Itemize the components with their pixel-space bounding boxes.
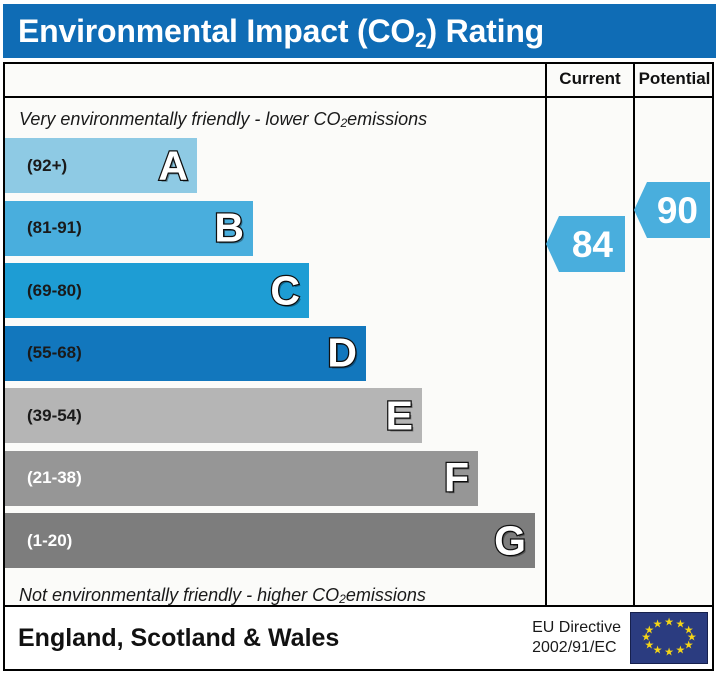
footer-directive-group: EU Directive 2002/91/EC (532, 607, 712, 669)
column-header-current: Current (545, 62, 633, 96)
current-rating-arrow: 84 (546, 216, 625, 272)
column-divider-potential (633, 98, 635, 607)
potential-rating-arrow: 90 (634, 182, 710, 238)
rating-band-a: (92+)A (5, 138, 197, 193)
eu-directive-text: EU Directive 2002/91/EC (532, 618, 630, 659)
footer-bar: England, Scotland & Wales EU Directive 2… (3, 607, 714, 671)
caption-top-suffix: emissions (347, 109, 427, 130)
title-banner: Environmental Impact (CO2) Rating (3, 4, 716, 58)
rating-band-b: (81-91)B (5, 201, 253, 256)
caption-very-friendly: Very environmentally friendly - lower CO… (5, 102, 543, 136)
band-range-label: (81-91) (5, 218, 82, 238)
title-prefix: Environmental Impact (CO (18, 13, 415, 49)
band-letter-a: A (158, 145, 188, 186)
rating-bands: (92+)A(81-91)B(69-80)C(55-68)D(39-54)E(2… (5, 138, 543, 576)
rating-band-g: (1-20)G (5, 513, 535, 568)
band-letter-c: C (270, 270, 300, 311)
band-letter-b: B (214, 208, 244, 249)
caption-bottom-subscript: 2 (339, 592, 346, 606)
band-letter-g: G (494, 520, 526, 561)
title-suffix: ) Rating (427, 13, 545, 49)
rating-band-d: (55-68)D (5, 326, 366, 381)
footer-region-label: England, Scotland & Wales (5, 624, 339, 653)
caption-bottom-prefix: Not environmentally friendly - higher CO (19, 585, 339, 606)
band-range-label: (92+) (5, 156, 67, 176)
potential-rating-value: 90 (657, 192, 698, 229)
caption-bottom-suffix: emissions (346, 585, 426, 606)
epc-environmental-impact-chart: Environmental Impact (CO2) Rating Curren… (0, 0, 719, 675)
band-range-label: (69-80) (5, 281, 82, 301)
eu-directive-line2: 2002/91/EC (532, 638, 621, 658)
band-letter-f: F (444, 458, 469, 499)
column-divider-current (545, 98, 547, 607)
band-range-label: (39-54) (5, 406, 82, 426)
band-letter-e: E (386, 395, 413, 436)
title-subscript: 2 (415, 29, 426, 52)
band-range-label: (21-38) (5, 468, 82, 488)
caption-top-prefix: Very environmentally friendly - lower CO (19, 109, 340, 130)
rating-band-f: (21-38)F (5, 451, 478, 506)
rating-band-c: (69-80)C (5, 263, 309, 318)
rating-band-e: (39-54)E (5, 388, 422, 443)
eu-flag-icon (630, 612, 708, 664)
band-range-label: (1-20) (5, 531, 72, 551)
caption-top-subscript: 2 (340, 116, 347, 130)
column-header-row: Current Potential (3, 62, 714, 98)
column-header-potential: Potential (633, 62, 714, 96)
eu-directive-line1: EU Directive (532, 618, 621, 638)
current-rating-value: 84 (572, 226, 613, 263)
band-letter-d: D (327, 333, 357, 374)
band-range-label: (55-68) (5, 343, 82, 363)
page-title: Environmental Impact (CO2) Rating (3, 13, 544, 50)
